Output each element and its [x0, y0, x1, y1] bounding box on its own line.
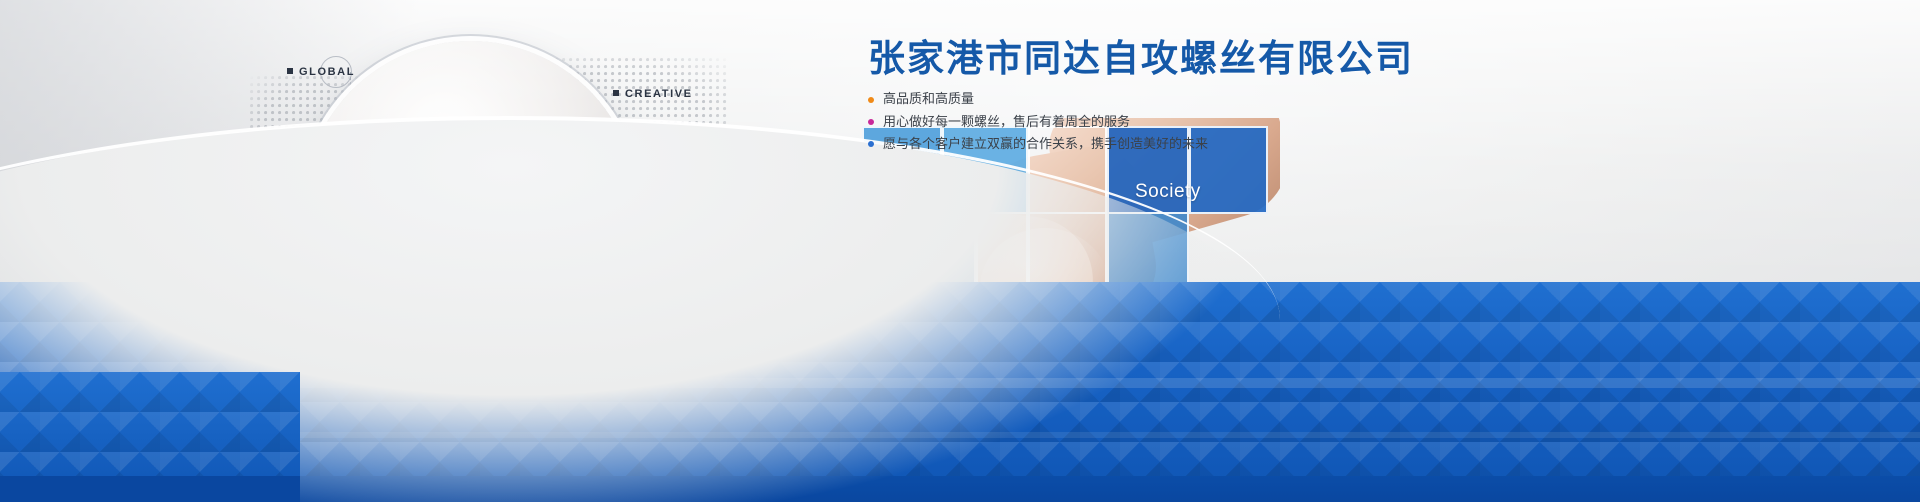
bullet-dot-icon	[868, 119, 874, 125]
company-banner: GLOBAL DIGITAL CREATIVE DREAM	[0, 0, 1920, 502]
bullet-list: 高品质和高质量 用心做好每一颗螺丝，售后有着周全的服务 愿与各个客户建立双赢的合…	[868, 89, 1708, 153]
bullet-dot-icon	[868, 97, 874, 103]
bullet-item: 用心做好每一颗螺丝，售后有着周全的服务	[868, 112, 1708, 132]
text-block: 张家港市同达自攻螺丝有限公司 高品质和高质量 用心做好每一颗螺丝，售后有着周全的…	[868, 38, 1708, 156]
bullet-item: 愿与各个客户建立双赢的合作关系，携手创造美好的未来	[868, 134, 1708, 154]
bullet-item: 高品质和高质量	[868, 89, 1708, 109]
bullet-text: 用心做好每一颗螺丝，售后有着周全的服务	[883, 112, 1130, 132]
bullet-text: 高品质和高质量	[883, 89, 974, 109]
company-title: 张家港市同达自攻螺丝有限公司	[868, 38, 1708, 79]
bullet-dot-icon	[868, 141, 874, 147]
blue-band-left-wedge	[0, 372, 300, 502]
bullet-text: 愿与各个客户建立双赢的合作关系，携手创造美好的未来	[883, 134, 1208, 154]
